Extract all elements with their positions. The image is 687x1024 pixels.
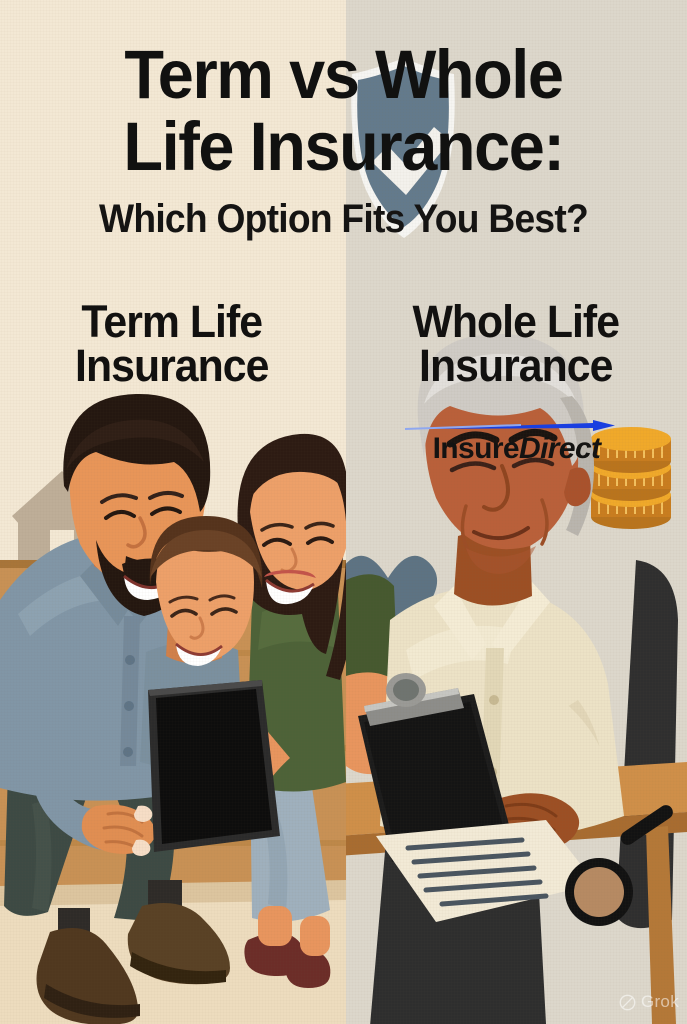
logo-wordmark: InsureDirect [346, 434, 687, 464]
term-life-heading: Term Life Insurance [9, 300, 335, 387]
term-life-heading-line-2: Insurance [9, 344, 335, 388]
headline-subtitle: Which Option Fits You Best? [24, 197, 663, 242]
logo-text-direct: Direct [519, 432, 600, 465]
headline-block: Term vs Whole Life Insurance: Which Opti… [0, 0, 687, 242]
headline-line-2: Life Insurance: [21, 114, 667, 180]
whole-life-heading-line-2: Insurance [352, 344, 678, 388]
grok-watermark: Grok [619, 992, 679, 1012]
tablet-device [148, 680, 280, 852]
logo-text-insure: Insure [433, 432, 519, 465]
whole-life-heading: Whole Life Insurance [352, 300, 678, 387]
grok-watermark-label: Grok [641, 992, 679, 1012]
headline-line-1: Term vs Whole [21, 42, 667, 108]
poster-root: Term vs Whole Life Insurance: Which Opti… [0, 0, 687, 1024]
column-headings: Term Life Insurance Whole Life Insurance [0, 300, 687, 387]
insuredirect-logo[interactable]: InsureDirect [346, 420, 687, 464]
grok-logo-icon [619, 994, 636, 1011]
